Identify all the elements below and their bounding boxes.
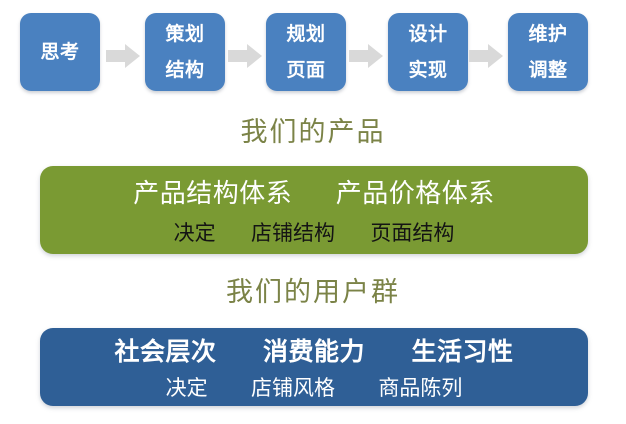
users-sub-items: 决定 店铺风格 商品陈列 xyxy=(166,372,463,402)
product-banner: 产品结构体系 产品价格体系 决定 店铺结构 页面结构 xyxy=(40,166,588,254)
process-step-think[interactable]: 思考 xyxy=(20,13,100,91)
product-main-item: 产品价格体系 xyxy=(336,179,495,209)
process-step-label: 设计 xyxy=(408,25,447,44)
arrow-right-icon xyxy=(349,44,383,68)
process-step-label: 思考 xyxy=(40,43,79,62)
product-section-heading: 我们的产品 xyxy=(0,119,626,146)
process-step-label: 实现 xyxy=(408,61,447,80)
process-step-layout[interactable]: 规划 页面 xyxy=(266,13,346,91)
arrow-right-icon xyxy=(228,44,262,68)
product-sub-item: 决定 xyxy=(174,221,216,245)
product-sub-item: 页面结构 xyxy=(370,221,454,245)
process-step-maintain[interactable]: 维护 调整 xyxy=(508,13,588,91)
process-step-label: 规划 xyxy=(286,25,325,44)
users-main-items: 社会层次 消费能力 生活习性 xyxy=(115,332,514,368)
slide-canvas: 思考 策划 结构 规划 页面 设计 实现 xyxy=(0,0,626,424)
product-main-item: 产品结构体系 xyxy=(133,179,292,209)
product-sub-items: 决定 店铺结构 页面结构 xyxy=(174,217,455,247)
arrow-right-icon xyxy=(469,44,503,68)
process-flow: 思考 策划 结构 规划 页面 设计 实现 xyxy=(0,0,626,105)
users-main-item: 生活习性 xyxy=(411,337,513,366)
process-step-plan[interactable]: 策划 结构 xyxy=(145,13,225,91)
process-step-label: 结构 xyxy=(165,61,204,80)
users-sub-item: 决定 xyxy=(166,376,208,400)
arrow-right-icon xyxy=(106,44,140,68)
process-step-label: 页面 xyxy=(286,61,325,80)
process-step-label: 维护 xyxy=(528,25,567,44)
process-step-design[interactable]: 设计 实现 xyxy=(388,13,468,91)
users-section-heading: 我们的用户群 xyxy=(0,279,626,306)
users-main-item: 消费能力 xyxy=(263,337,365,366)
process-step-label: 策划 xyxy=(165,25,204,44)
product-sub-item: 店铺结构 xyxy=(251,221,335,245)
product-main-items: 产品结构体系 产品价格体系 xyxy=(133,173,495,210)
users-sub-item: 商品陈列 xyxy=(378,376,462,400)
users-main-item: 社会层次 xyxy=(115,337,217,366)
users-banner: 社会层次 消费能力 生活习性 决定 店铺风格 商品陈列 xyxy=(40,328,588,406)
process-step-label: 调整 xyxy=(528,61,567,80)
users-sub-item: 店铺风格 xyxy=(251,376,335,400)
